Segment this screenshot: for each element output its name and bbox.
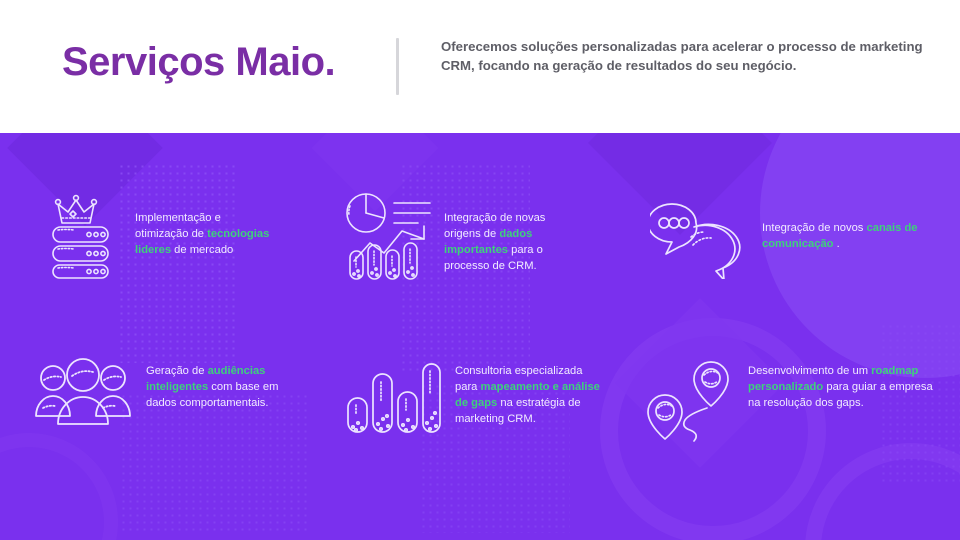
crown-server-icon bbox=[48, 193, 122, 279]
bar-chart-icon bbox=[344, 358, 442, 436]
service-text-0-post: de mercado bbox=[171, 244, 233, 256]
service-item-2[interactable]: Integração de novos canais de comunicaçã… bbox=[650, 193, 935, 279]
header-divider bbox=[396, 38, 399, 95]
pie-chart-growth-icon bbox=[344, 193, 436, 281]
service-text-4: Consultoria especializada para mapeament… bbox=[455, 364, 605, 428]
service-text-3-pre: Geração de bbox=[146, 365, 208, 377]
service-text-5-pre: Desenvolvimento de um bbox=[748, 365, 871, 377]
services-grid: Implementação e otimização de tecnologia… bbox=[0, 133, 960, 540]
service-text-0: Implementação e otimização de tecnologia… bbox=[135, 211, 275, 259]
service-text-3: Geração de audiências inteligentes com b… bbox=[146, 364, 291, 412]
service-icon-1-wrap bbox=[350, 193, 430, 281]
page-title: Serviços Maio. bbox=[62, 42, 335, 82]
people-group-icon bbox=[31, 358, 135, 430]
header: Serviços Maio. Oferecemos soluções perso… bbox=[0, 0, 960, 133]
service-icon-3-wrap bbox=[28, 358, 138, 430]
service-text-2-pre: Integração de novos bbox=[762, 222, 867, 234]
page-title-text: Serviços Maio bbox=[62, 40, 325, 84]
service-text-5: Desenvolvimento de um roadmap personaliz… bbox=[748, 364, 933, 412]
service-item-0[interactable]: Implementação e otimização de tecnologia… bbox=[45, 193, 305, 279]
slide: Serviços Maio. Oferecemos soluções perso… bbox=[0, 0, 960, 540]
service-text-2-post: . bbox=[834, 238, 840, 250]
service-item-1[interactable]: Integração de novas origens de dados imp… bbox=[350, 193, 610, 281]
service-item-3[interactable]: Geração de audiências inteligentes com b… bbox=[28, 358, 308, 430]
page-title-period: . bbox=[325, 40, 336, 84]
map-pins-route-icon bbox=[647, 358, 739, 444]
service-text-2: Integração de novos canais de comunicaçã… bbox=[762, 221, 922, 253]
service-item-4[interactable]: Consultoria especializada para mapeament… bbox=[340, 358, 610, 436]
service-icon-2-wrap bbox=[650, 193, 750, 279]
speech-bubbles-icon bbox=[650, 193, 750, 279]
service-icon-0-wrap bbox=[45, 193, 125, 279]
service-icon-5-wrap bbox=[645, 358, 740, 444]
service-item-5[interactable]: Desenvolvimento de um roadmap personaliz… bbox=[645, 358, 945, 444]
service-icon-4-wrap bbox=[340, 358, 445, 436]
service-text-1: Integração de novas origens de dados imp… bbox=[444, 211, 574, 275]
header-subtitle: Oferecemos soluções personalizadas para … bbox=[441, 38, 931, 75]
